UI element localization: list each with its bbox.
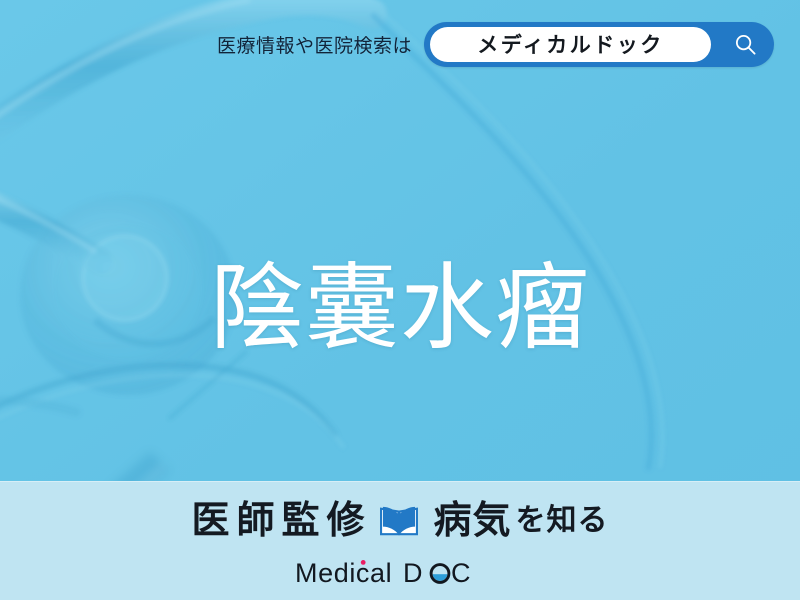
page-title: 陰囊水瘤 [210, 259, 590, 358]
svg-text:Medical: Medical [295, 558, 392, 588]
search-bar[interactable]: メディカルドック [424, 22, 774, 67]
search-input[interactable]: メディカルドック [430, 27, 711, 62]
page-title-container: 陰囊水瘤 [0, 196, 800, 421]
medical-doc-logo[interactable]: Medical D C [295, 556, 505, 590]
svg-text:C: C [451, 558, 472, 588]
brand-logo-container: Medical D C [0, 556, 800, 595]
open-book-icon [378, 504, 420, 538]
svg-text:D: D [403, 558, 424, 588]
bottom-band: 医師監修 病気 を知る Medical D [0, 481, 800, 600]
search-input-value: メディカルドック [477, 29, 664, 59]
supervision-label: 医師監修 [191, 502, 371, 540]
headline-strong: 病気 [434, 502, 512, 540]
medical-doc-logo-mark: Medical D C [295, 556, 505, 590]
headline-rest: を知る [516, 506, 609, 536]
page-root: 医療情報や医院検索は メディカルドック 陰囊水瘤 医師監修 病気 を知る [0, 0, 800, 600]
search-icon[interactable] [734, 33, 757, 56]
header-bar: 医療情報や医院検索は メディカルドック [0, 0, 800, 88]
band-headline-row: 医師監修 病気 を知る [0, 494, 800, 548]
header-label: 医療情報や医院検索は [217, 31, 412, 58]
